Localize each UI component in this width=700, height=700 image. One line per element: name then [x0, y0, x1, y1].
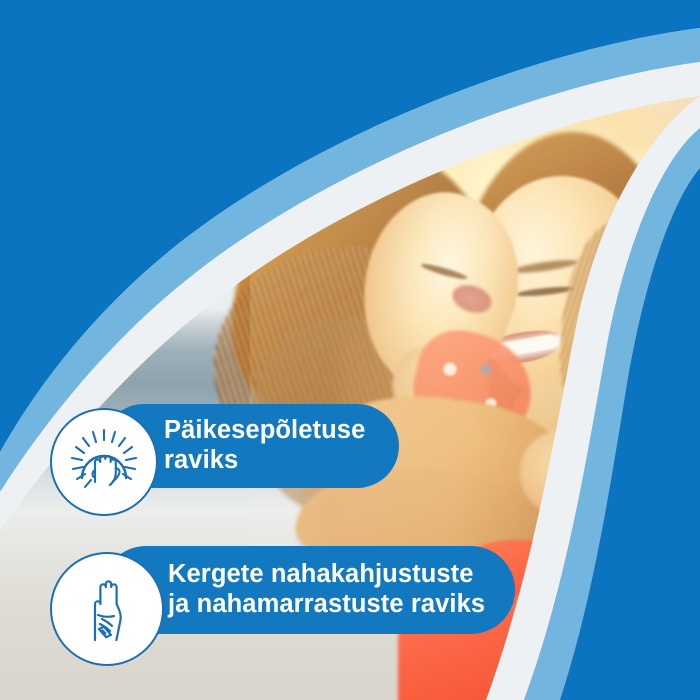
badge-sunburn-icon-disc — [50, 408, 158, 516]
promo-poster: Päikesepõletuse raviks — [0, 0, 700, 700]
badge-sunburn-label: Päikesepõletuse raviks — [164, 416, 365, 475]
badge-abrasion[interactable]: Kergete nahakahjustuste ja nahamarrastus… — [50, 546, 515, 634]
feature-badge-list: Päikesepõletuse raviks — [0, 0, 700, 700]
hand-with-scratches-icon — [72, 574, 142, 644]
badge-abrasion-pill[interactable]: Kergete nahakahjustuste ja nahamarrastus… — [102, 546, 515, 634]
badge-abrasion-icon-disc — [50, 552, 164, 666]
sun-with-hand-icon — [68, 426, 140, 498]
badge-abrasion-label: Kergete nahakahjustuste ja nahamarrastus… — [168, 560, 485, 619]
badge-sunburn[interactable]: Päikesepõletuse raviks — [50, 404, 399, 488]
